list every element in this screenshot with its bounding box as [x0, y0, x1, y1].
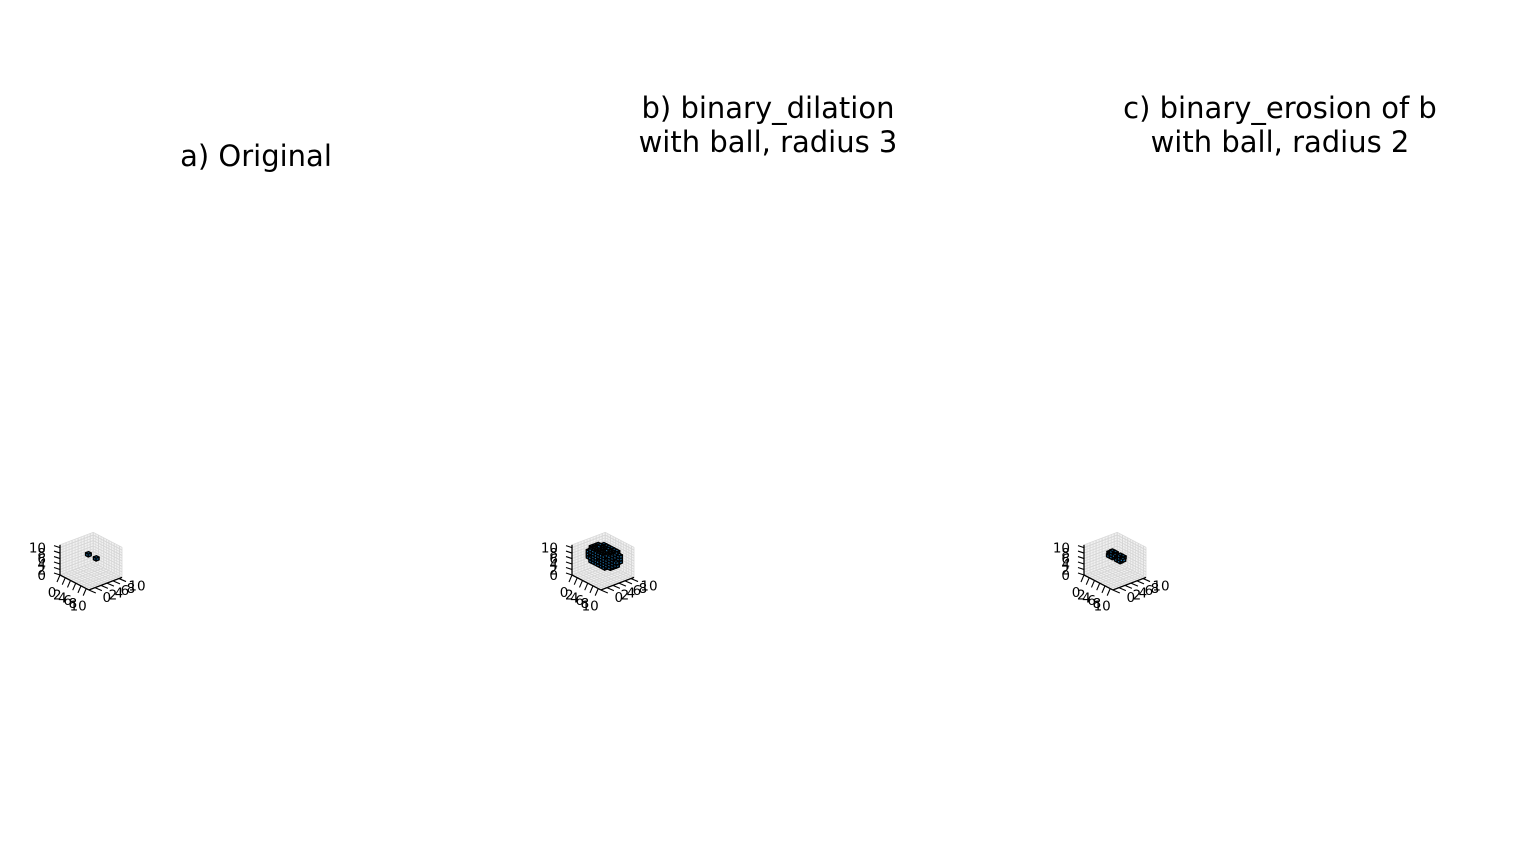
subplot-panel-b: b) binary_dilation with ball, radius 3 0…	[512, 0, 1024, 864]
subplot-panel-c: c) binary_erosion of b with ball, radius…	[1024, 0, 1536, 864]
x-tick-label: 0	[1072, 585, 1081, 601]
z-tick-label: 10	[541, 541, 558, 557]
voxel-plot-a: 024681010864200246810	[0, 230, 512, 660]
axes3d-b: 024681010864200246810	[512, 230, 1024, 660]
voxel-face-side	[1123, 558, 1126, 562]
voxel-face-side	[96, 557, 99, 561]
y-tick-label: 10	[640, 579, 657, 595]
axes3d-c: 024681010864200246810	[1024, 230, 1536, 660]
voxel-face-side	[619, 555, 622, 559]
voxel-cube	[617, 553, 623, 558]
panel-title-b-line2: with ball, radius 3	[639, 125, 898, 159]
voxel-cube	[1120, 557, 1126, 562]
x-tick-label: 0	[48, 585, 57, 601]
panel-title-c-line2: with ball, radius 2	[1151, 125, 1410, 159]
voxel-cube	[86, 552, 92, 557]
voxel-plot-b: 024681010864200246810	[512, 230, 1024, 660]
panel-title-c-line1: c) binary_erosion of b	[1123, 91, 1437, 125]
panel-title-b-line1: b) binary_dilation	[642, 91, 895, 125]
panel-title-b: b) binary_dilation with ball, radius 3	[512, 92, 1024, 160]
voxel-plot-c: 024681010864200246810	[1024, 230, 1536, 660]
x-tick-label: 0	[560, 585, 569, 601]
axes3d-a: 024681010864200246810	[0, 230, 512, 660]
voxel-cube	[93, 556, 99, 561]
subplot-panel-a: a) Original 024681010864200246810	[0, 0, 512, 864]
voxel-face-side	[88, 553, 91, 557]
y-tick-label: 10	[1152, 579, 1169, 595]
figure-canvas: a) Original 024681010864200246810 b) bin…	[0, 0, 1536, 864]
z-tick-label: 10	[1053, 541, 1070, 557]
y-tick-label: 10	[128, 579, 145, 595]
panel-title-a: a) Original	[0, 140, 512, 174]
panel-title-c: c) binary_erosion of b with ball, radius…	[1024, 92, 1536, 160]
z-tick-label: 10	[29, 541, 46, 557]
